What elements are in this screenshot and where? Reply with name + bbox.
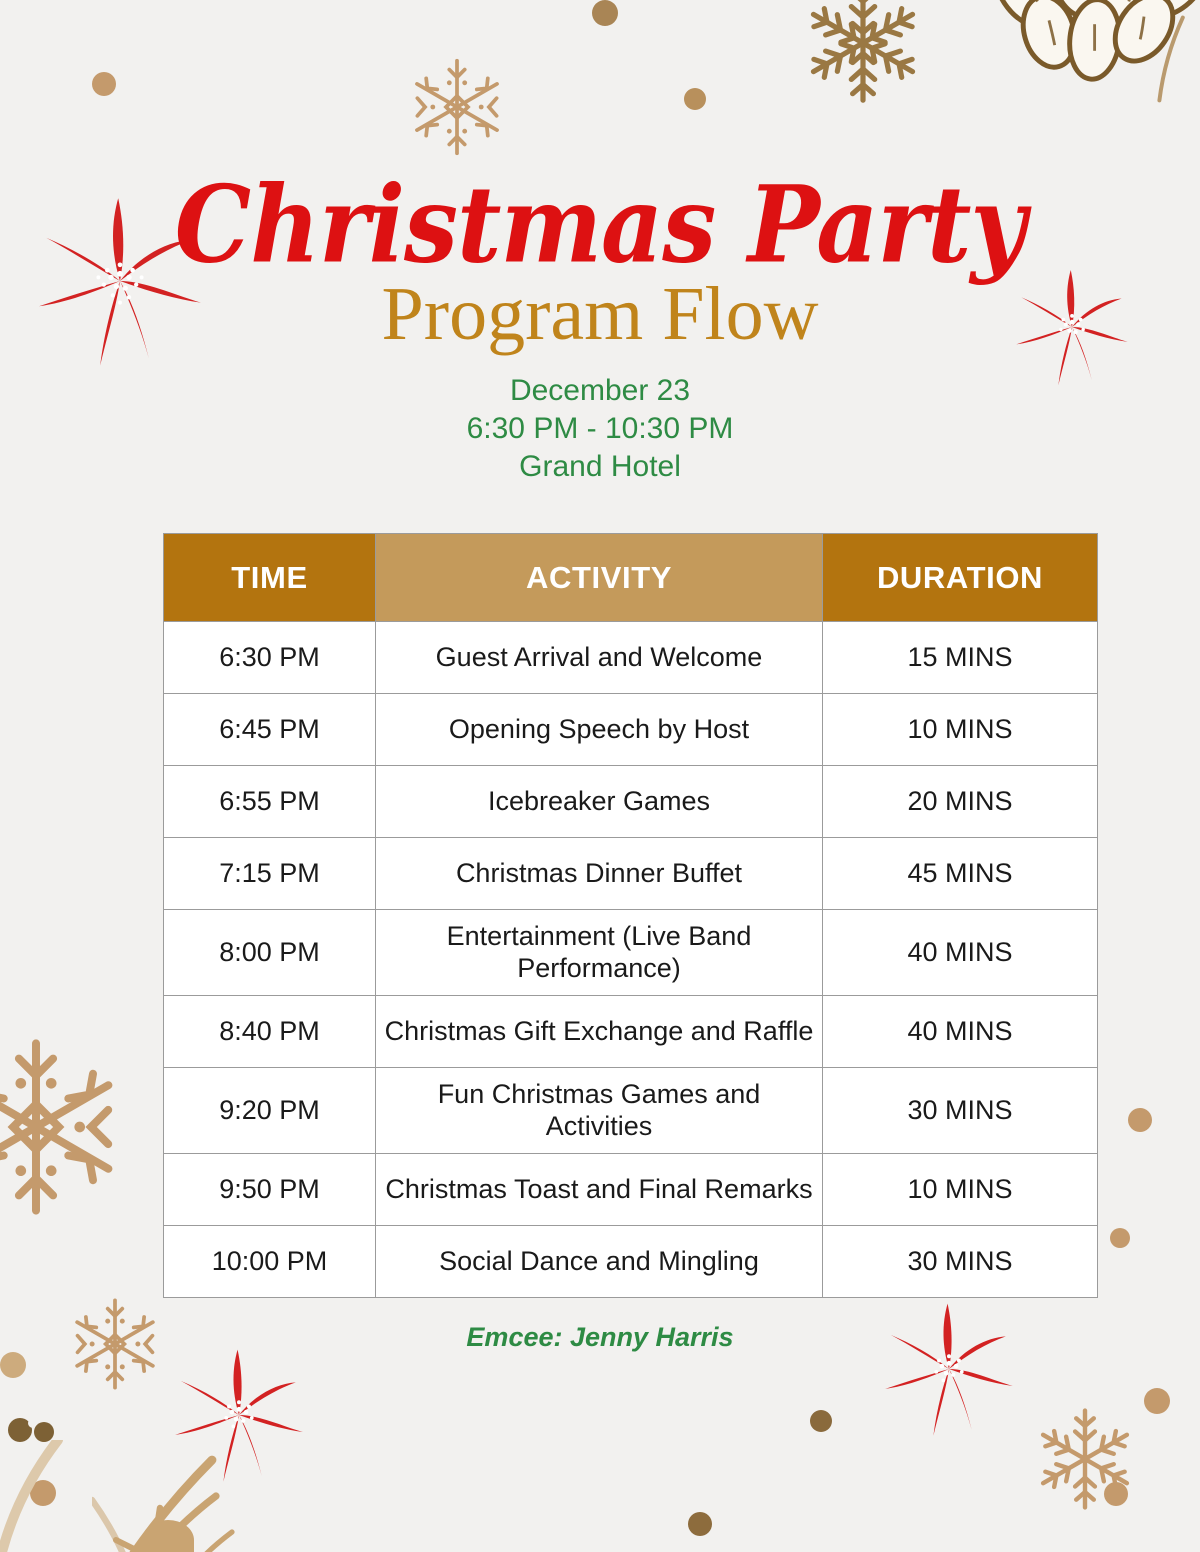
table-row: 10:00 PM Social Dance and Mingling 30 MI…: [164, 1225, 1098, 1297]
cell-activity: Guest Arrival and Welcome: [376, 622, 823, 694]
table-row: 6:30 PM Guest Arrival and Welcome 15 MIN…: [164, 622, 1098, 694]
cell-activity: Fun Christmas Games and Activities: [376, 1067, 823, 1153]
cell-time: 7:15 PM: [164, 838, 376, 910]
table-row: 9:20 PM Fun Christmas Games and Activiti…: [164, 1067, 1098, 1153]
gold-dot: [688, 1512, 712, 1536]
gold-dot: [34, 1422, 54, 1442]
gold-dot: [1104, 1482, 1128, 1506]
table-row: 6:55 PM Icebreaker Games 20 MINS: [164, 766, 1098, 838]
cell-duration: 45 MINS: [823, 838, 1098, 910]
cell-duration: 40 MINS: [823, 910, 1098, 996]
cell-time: 9:50 PM: [164, 1153, 376, 1225]
event-time-range: 6:30 PM - 10:30 PM: [0, 410, 1200, 448]
table-row: 9:50 PM Christmas Toast and Final Remark…: [164, 1153, 1098, 1225]
gold-dot: [30, 1480, 56, 1506]
gold-dot: [810, 1410, 832, 1432]
page-subtitle: Program Flow: [0, 276, 1200, 354]
program-flow-page: Christmas Party Program Flow December 23…: [0, 0, 1200, 1552]
table-head: TIME ACTIVITY DURATION: [164, 534, 1098, 622]
snowflake-icon: [0, 1032, 134, 1222]
cell-duration: 30 MINS: [823, 1067, 1098, 1153]
column-header-time: TIME: [164, 534, 376, 622]
column-header-activity: ACTIVITY: [376, 534, 823, 622]
page-title: Christmas Party: [0, 173, 1200, 276]
cell-duration: 20 MINS: [823, 766, 1098, 838]
cell-activity: Entertainment (Live Band Performance): [376, 910, 823, 996]
poinsettia-icon: [878, 1294, 1020, 1444]
cell-time: 6:55 PM: [164, 766, 376, 838]
cell-time: 8:40 PM: [164, 995, 376, 1067]
cell-duration: 15 MINS: [823, 622, 1098, 694]
gold-dot: [142, 1520, 194, 1552]
gold-dot: [1128, 1108, 1152, 1132]
cell-duration: 30 MINS: [823, 1225, 1098, 1297]
event-details: December 23 6:30 PM - 10:30 PM Grand Hot…: [0, 372, 1200, 487]
poinsettia-icon: [168, 1340, 310, 1490]
event-date: December 23: [0, 372, 1200, 410]
table-row: 6:45 PM Opening Speech by Host 10 MINS: [164, 694, 1098, 766]
table-body: 6:30 PM Guest Arrival and Welcome 15 MIN…: [164, 622, 1098, 1298]
table-row: 8:00 PM Entertainment (Live Band Perform…: [164, 910, 1098, 996]
cell-time: 9:20 PM: [164, 1067, 376, 1153]
column-header-duration: DURATION: [823, 534, 1098, 622]
cell-time: 6:45 PM: [164, 694, 376, 766]
cell-activity: Social Dance and Mingling: [376, 1225, 823, 1297]
cell-activity: Icebreaker Games: [376, 766, 823, 838]
cell-activity: Christmas Gift Exchange and Raffle: [376, 995, 823, 1067]
cell-time: 6:30 PM: [164, 622, 376, 694]
grass-icon: [92, 1452, 392, 1552]
cell-activity: Christmas Dinner Buffet: [376, 838, 823, 910]
program-flow-table: TIME ACTIVITY DURATION 6:30 PM Guest Arr…: [163, 533, 1098, 1298]
gold-dot: [1144, 1388, 1170, 1414]
document-header: Christmas Party Program Flow December 23…: [0, 0, 1200, 487]
table-header-row: TIME ACTIVITY DURATION: [164, 534, 1098, 622]
cell-time: 8:00 PM: [164, 910, 376, 996]
cell-duration: 40 MINS: [823, 995, 1098, 1067]
table-row: 8:40 PM Christmas Gift Exchange and Raff…: [164, 995, 1098, 1067]
cell-duration: 10 MINS: [823, 1153, 1098, 1225]
cell-time: 10:00 PM: [164, 1225, 376, 1297]
gold-dot: [0, 1352, 26, 1378]
event-venue: Grand Hotel: [0, 448, 1200, 486]
emcee-label: Emcee: Jenny Harris: [0, 1322, 1200, 1353]
cell-activity: Christmas Toast and Final Remarks: [376, 1153, 823, 1225]
gold-dot: [1110, 1228, 1130, 1248]
table-row: 7:15 PM Christmas Dinner Buffet 45 MINS: [164, 838, 1098, 910]
cell-duration: 10 MINS: [823, 694, 1098, 766]
cell-activity: Opening Speech by Host: [376, 694, 823, 766]
